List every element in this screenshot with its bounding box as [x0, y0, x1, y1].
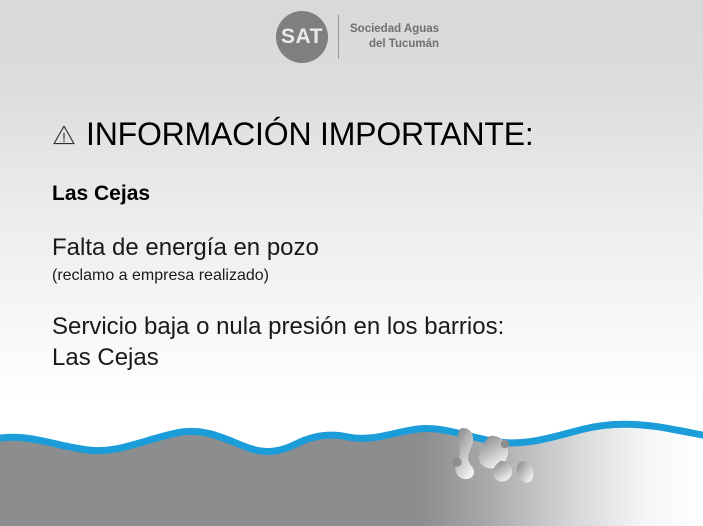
brand-logo: SAT Sociedad Aguas del Tucumán	[276, 11, 439, 63]
title-row: INFORMACIÓN IMPORTANTE:	[52, 118, 662, 152]
issue-primary-note: (reclamo a empresa realizado)	[52, 266, 662, 285]
warning-triangle-icon	[52, 123, 76, 147]
brand-name: Sociedad Aguas del Tucumán	[350, 22, 439, 52]
issue-secondary-detail: Las Cejas	[52, 342, 662, 373]
location-heading: Las Cejas	[52, 182, 662, 205]
wave-graphic	[0, 416, 703, 526]
issue-secondary-text: Servicio baja o nula presión en los barr…	[52, 311, 662, 342]
wave-fill	[0, 427, 703, 526]
issue-secondary-block: Servicio baja o nula presión en los barr…	[52, 311, 662, 373]
footer-wave-decoration	[0, 416, 703, 526]
page-title: INFORMACIÓN IMPORTANTE:	[86, 118, 534, 152]
slide-content: INFORMACIÓN IMPORTANTE: Las Cejas Falta …	[52, 118, 662, 373]
brand-name-line2: del Tucumán	[350, 37, 439, 52]
brand-name-line1: Sociedad Aguas	[350, 22, 439, 37]
logo-divider	[338, 15, 339, 59]
slide-canvas: SAT Sociedad Aguas del Tucumán INFORMACI…	[0, 0, 703, 526]
issue-primary-text: Falta de energía en pozo	[52, 235, 662, 262]
sat-logo-text: SAT	[281, 26, 323, 48]
sat-logo-circle-icon: SAT	[276, 11, 328, 63]
